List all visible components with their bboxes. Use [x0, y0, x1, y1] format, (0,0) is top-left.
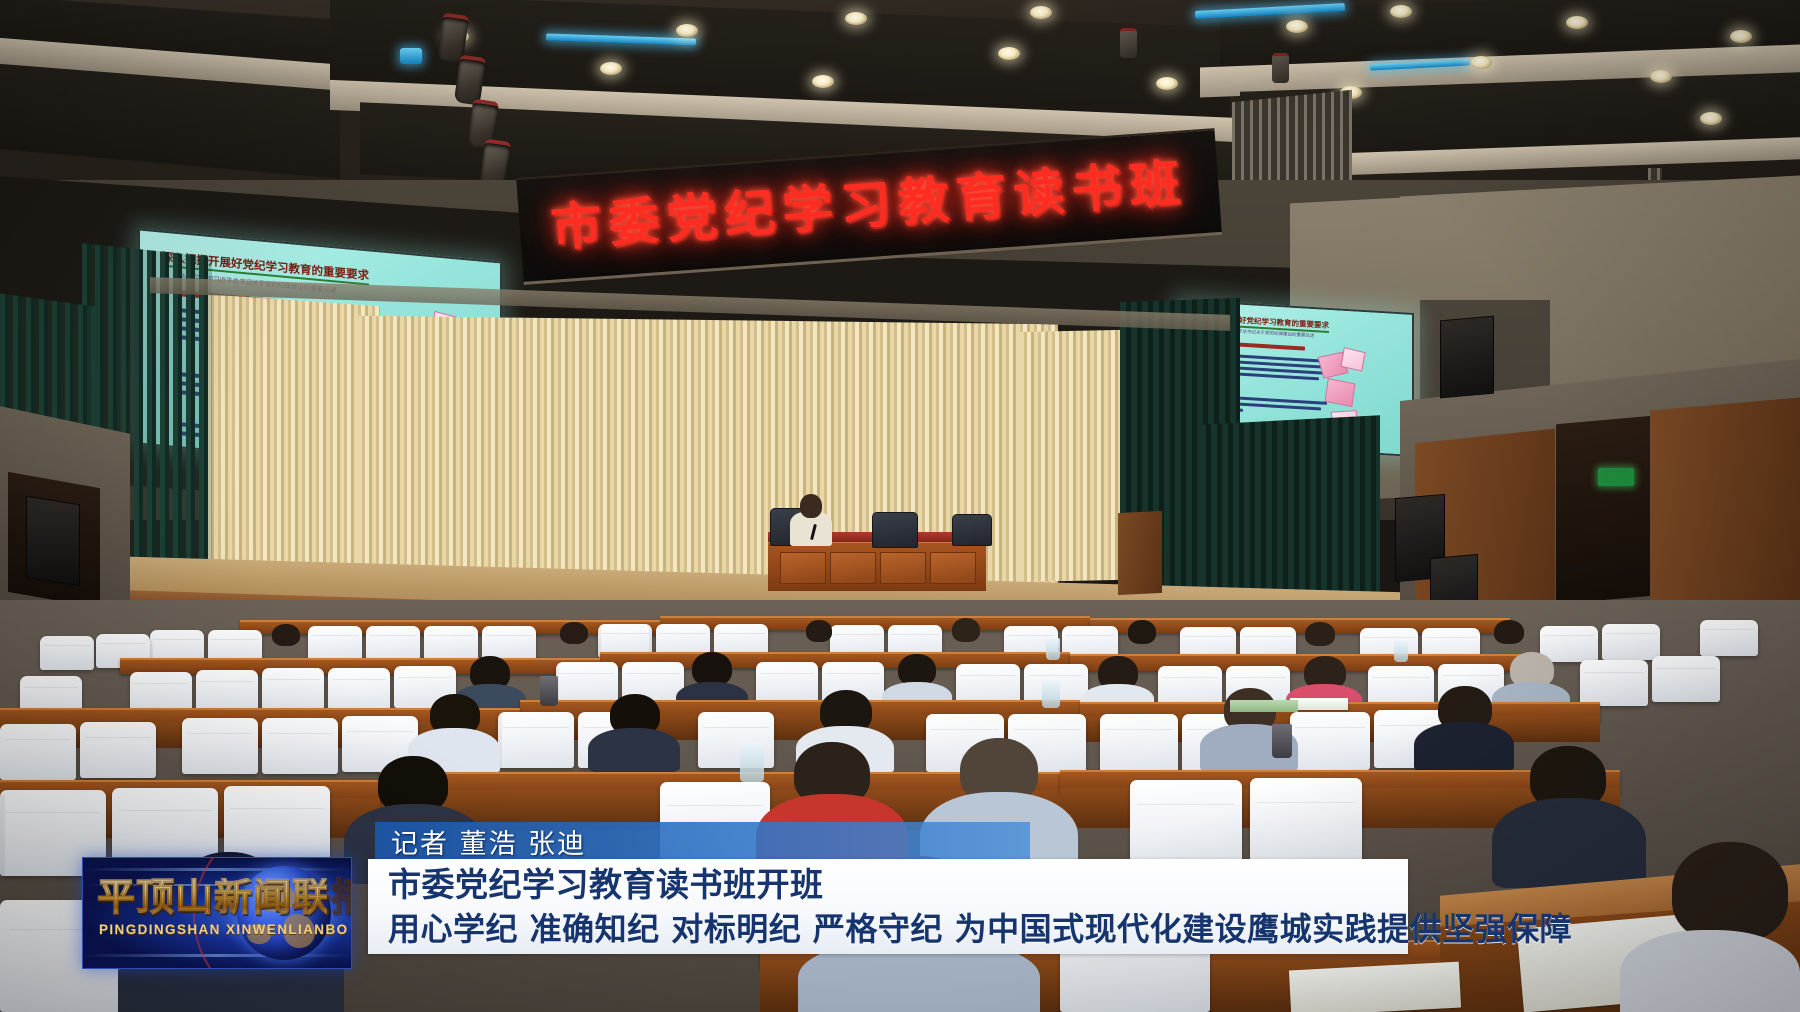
seat [40, 636, 94, 670]
attendee-head [1128, 620, 1156, 644]
headline-secondary: 用心学纪 准确知纪 对标明纪 严格守纪 为中国式现代化建设鹰城实践提供坚强保障 [388, 904, 1572, 950]
ceiling-downlight [1650, 70, 1672, 83]
right-doorway [1556, 416, 1652, 604]
seat [556, 662, 618, 704]
broadcast-frame: 市委党纪学习教育读书班 深入把握开展好党纪学习教育的重要要求 深入学习贯彻习近平… [0, 0, 1800, 1012]
seat [1700, 620, 1758, 656]
wall-speaker [26, 496, 80, 587]
lectern [1118, 511, 1162, 595]
ceiling-downlight [1700, 112, 1722, 125]
seat [1100, 714, 1178, 772]
lower-third-overlay: 平顶山新闻联播 PINGDINGSHAN XINWENLIANBO 记者 董浩 … [0, 822, 1800, 1012]
seat [0, 724, 76, 780]
ceiling-downlight [1030, 6, 1052, 19]
attendee-head [806, 620, 832, 642]
attendee-head [692, 652, 732, 686]
water-glass [1042, 680, 1060, 708]
seat [756, 662, 818, 704]
seat [366, 626, 420, 660]
seat [182, 718, 258, 774]
channel-logo-title-cn: 平顶山新闻联播 [97, 878, 327, 916]
stage-spotlight [1120, 28, 1137, 58]
ceiling-downlight [998, 47, 1020, 60]
ceiling-downlight [1390, 5, 1412, 18]
headline-primary: 市委党纪学习教育读书班开班 [388, 858, 824, 906]
seat [1290, 712, 1370, 770]
attendee-head [1305, 622, 1335, 646]
stage-curtain-green [1200, 415, 1380, 614]
exit-sign [1598, 468, 1634, 486]
ceiling-downlight [1470, 56, 1492, 69]
wall-wood-panel [1650, 397, 1800, 630]
head-table-panel [830, 552, 876, 584]
ceiling-downlight [1156, 77, 1178, 90]
ceiling-downlight [812, 75, 834, 88]
water-glass [740, 742, 764, 782]
thermos [1272, 724, 1292, 758]
seat [80, 722, 156, 778]
seat [196, 670, 258, 712]
seat [1580, 660, 1648, 706]
stage-spotlight [1272, 53, 1289, 83]
seat [1652, 656, 1720, 702]
reporter-credit-text: 记者 董浩 张迪 [391, 822, 586, 861]
seat [262, 668, 324, 710]
ceiling-downlight [1286, 20, 1308, 33]
head-table-panel [880, 552, 926, 584]
attendee-head [560, 622, 588, 644]
channel-logo: 平顶山新闻联播 PINGDINGSHAN XINWENLIANBO [82, 857, 352, 969]
ceiling-downlight [1730, 30, 1752, 43]
head-table-chair [952, 514, 992, 546]
wall-speaker [1440, 316, 1494, 399]
stage-banner-text: 市委党纪学习教育读书班 [549, 158, 1189, 254]
seat [308, 626, 362, 660]
seat [328, 668, 390, 710]
ceiling-downlight [676, 24, 698, 37]
document [1290, 698, 1348, 710]
attendee-head [952, 618, 980, 642]
desk-pad [1230, 700, 1298, 712]
head-table-panel [780, 552, 826, 584]
seat [262, 718, 338, 774]
attendee-head [272, 624, 300, 646]
seat [1540, 626, 1598, 662]
seat [424, 626, 478, 660]
thermos [540, 676, 558, 706]
water-glass [1046, 638, 1060, 660]
stage-blue-light [400, 48, 422, 64]
presenter-head [800, 494, 822, 518]
ceiling-downlight [600, 62, 622, 75]
seat [482, 626, 536, 660]
seat [1602, 624, 1660, 660]
head-table-panel [930, 552, 976, 584]
channel-logo-title-en: PINGDINGSHAN XINWENLIANBO [99, 922, 337, 937]
water-glass [1394, 640, 1408, 662]
attendee-shoulders [588, 728, 680, 772]
seat [498, 712, 574, 768]
attendee-shoulders [1414, 722, 1514, 772]
ceiling-downlight [1566, 16, 1588, 29]
attendee-head [1494, 620, 1524, 644]
ceiling-downlight [845, 12, 867, 25]
head-table-chair [872, 512, 918, 548]
reporter-credit-bar: 记者 董浩 张迪 [375, 822, 1030, 860]
